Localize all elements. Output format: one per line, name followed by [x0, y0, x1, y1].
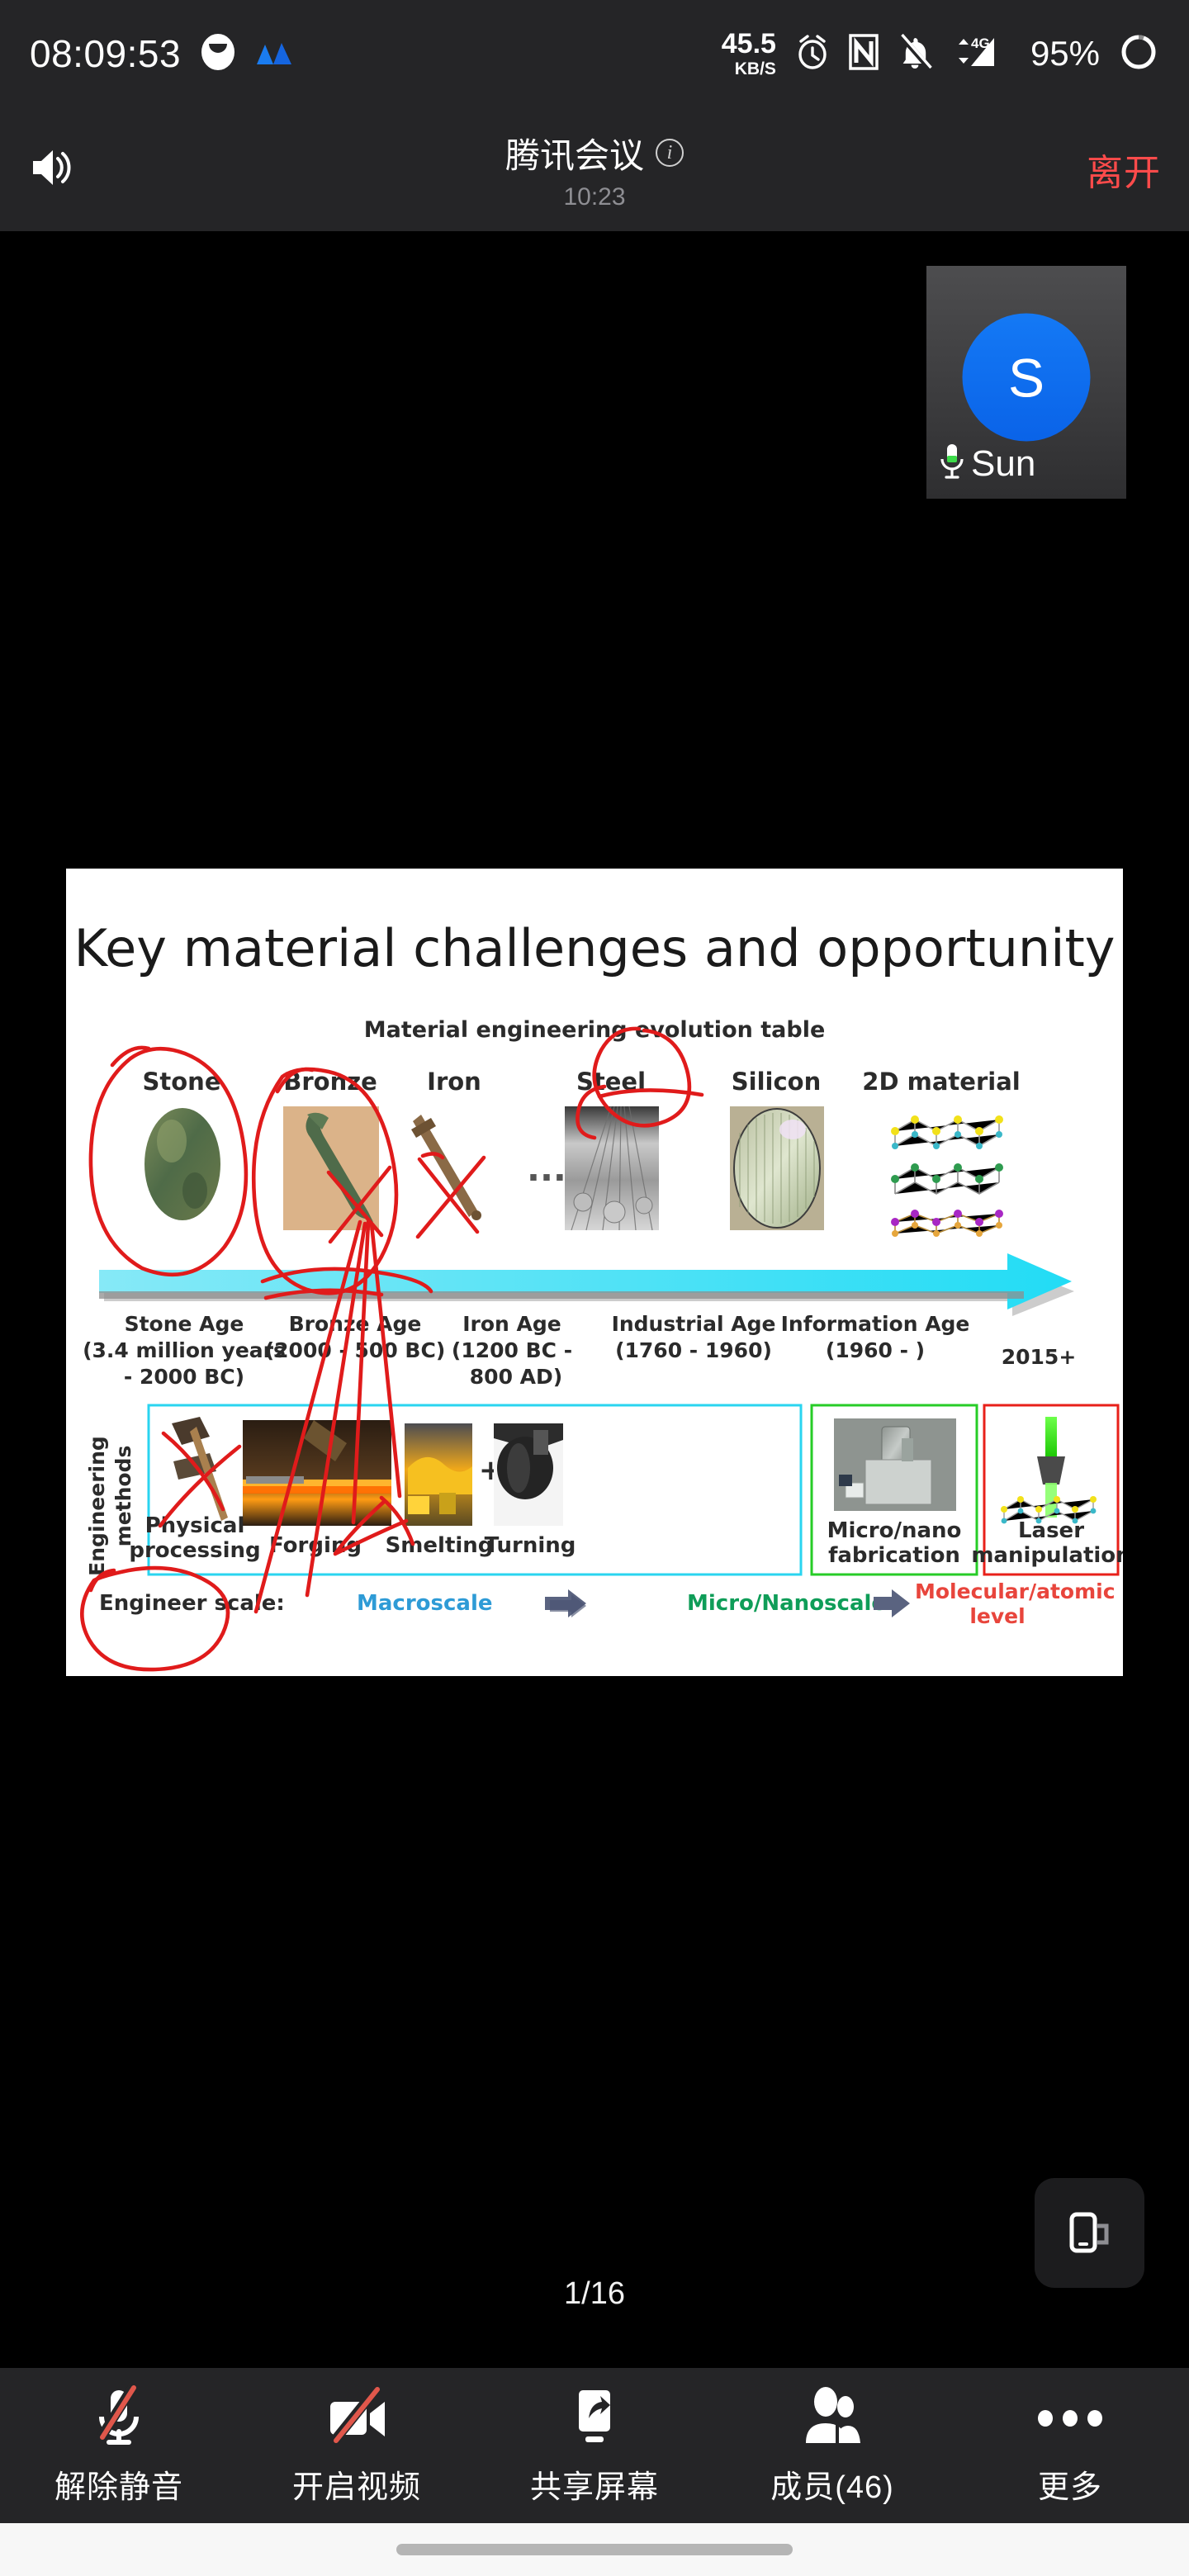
mute-button[interactable]: 解除静音: [0, 2385, 238, 2507]
status-bar-left: 08:09:53: [30, 31, 293, 76]
battery-percent: 95%: [1030, 34, 1100, 73]
svg-text:Bronze Age: Bronze Age: [289, 1312, 422, 1336]
floating-window-icon: [1060, 2201, 1120, 2265]
svg-text:(1200 BC -: (1200 BC -: [452, 1338, 572, 1362]
avatar-initial: S: [1008, 346, 1045, 409]
turning-thumb: [494, 1423, 563, 1526]
status-bar-right: 45.5 KB/S 4G 95%: [722, 30, 1159, 78]
info-icon[interactable]: i: [656, 139, 684, 167]
scale-molecular-label-2: level: [969, 1604, 1025, 1628]
home-indicator-area: [0, 2523, 1189, 2576]
status-clock: 08:09:53: [30, 31, 181, 76]
svg-text:2015+: 2015+: [1002, 1345, 1077, 1369]
app-badge-icon: [255, 38, 293, 70]
svg-text:Micro/nano: Micro/nano: [827, 1518, 962, 1543]
svg-text:Engineering: Engineering: [85, 1436, 109, 1576]
participants-button-label: 成员(46): [770, 2461, 894, 2507]
smelting-thumb: [405, 1423, 472, 1526]
mic-muted-icon: [88, 2385, 149, 2448]
timeline-arrow: [99, 1253, 1074, 1316]
leave-button[interactable]: 离开: [1087, 143, 1161, 196]
battery-ring-icon: [1118, 31, 1159, 77]
svg-text:(1960 - ): (1960 - ): [826, 1338, 925, 1362]
share-screen-icon: [564, 2385, 625, 2448]
scale-macro-label: Macroscale: [357, 1591, 493, 1616]
video-button-label: 开启视频: [292, 2461, 421, 2507]
meeting-header-center: 腾讯会议 i 10:23: [0, 107, 1189, 231]
svg-text:(1760 - 1960): (1760 - 1960): [615, 1338, 772, 1362]
svg-text:Material engineering evolution: Material engineering evolution table: [364, 1017, 826, 1043]
svg-text:Silicon: Silicon: [732, 1068, 821, 1096]
bottom-toolbar: 解除静音 开启视频 共享屏幕: [0, 2368, 1189, 2523]
svg-text:Turning: Turning: [485, 1533, 576, 1558]
svg-text:methods: methods: [111, 1446, 135, 1547]
svg-text:- 2000 BC): - 2000 BC): [124, 1365, 244, 1389]
svg-text:fabrication: fabrication: [828, 1543, 960, 1568]
network-speed-unit: KB/S: [735, 60, 776, 78]
ellipsis-label: ...: [527, 1148, 566, 1189]
share-screen-button[interactable]: 共享屏幕: [476, 2385, 713, 2507]
svg-text:Iron Age: Iron Age: [462, 1312, 561, 1336]
signal-4g-icon: 4G: [951, 33, 1012, 75]
participants-button[interactable]: 成员(46): [713, 2385, 951, 2507]
participants-icon: [798, 2385, 867, 2448]
status-bar: 08:09:53 45.5 KB/S: [0, 0, 1189, 107]
more-button-label: 更多: [1038, 2461, 1102, 2507]
svg-text:(3.4 million years: (3.4 million years: [83, 1338, 286, 1362]
meeting-header: 腾讯会议 i 10:23 离开: [0, 107, 1189, 231]
svg-text:Smelting: Smelting: [386, 1533, 494, 1558]
speaker-on-icon[interactable]: [28, 144, 79, 195]
home-indicator[interactable]: [396, 2544, 793, 2555]
slide-content: Material engineering evolution table Sto…: [66, 869, 1123, 1676]
stone-thumb: [144, 1108, 220, 1220]
participant-video-tile[interactable]: S Sun: [926, 266, 1126, 499]
mic-active-icon: [938, 442, 966, 485]
scale-micro-label: Micro/Nanoscale: [687, 1591, 886, 1616]
moon-icon: [201, 33, 235, 75]
svg-text:800 AD): 800 AD): [470, 1365, 562, 1389]
participant-footer: Sun: [938, 442, 1035, 485]
network-speed-value: 45.5: [722, 30, 776, 58]
svg-text:Stone Age: Stone Age: [125, 1312, 244, 1336]
nfc-icon: [849, 33, 879, 75]
svg-text:2D material: 2D material: [862, 1068, 1020, 1096]
svg-text:Stone: Stone: [143, 1068, 221, 1096]
forging-thumb: [243, 1420, 391, 1526]
bell-muted-icon: [897, 33, 933, 75]
page-indicator: 1/16: [0, 2276, 1189, 2312]
shared-slide[interactable]: Key material challenges and opportunity: [66, 869, 1123, 1676]
camera-off-icon: [322, 2385, 391, 2448]
laser-manipulation-thumb: [1001, 1417, 1097, 1523]
meeting-title-row: 腾讯会议 i: [505, 128, 684, 178]
svg-text:Industrial Age: Industrial Age: [612, 1312, 776, 1336]
scale-arrow-1: [545, 1589, 586, 1617]
avatar: S: [963, 314, 1091, 442]
svg-text:manipulation: manipulation: [971, 1543, 1123, 1568]
alarm-icon: [794, 33, 831, 75]
floating-window-button[interactable]: [1035, 2178, 1144, 2288]
svg-text:Information Age: Information Age: [781, 1312, 970, 1336]
share-screen-button-label: 共享屏幕: [530, 2461, 659, 2507]
svg-text:(2000 - 500 BC): (2000 - 500 BC): [265, 1338, 446, 1362]
bronze-thumb: [283, 1106, 379, 1230]
silicon-thumb: [730, 1106, 824, 1230]
meeting-title: 腾讯会议: [505, 128, 644, 178]
meeting-duration: 10:23: [563, 183, 625, 211]
participant-name: Sun: [971, 443, 1035, 485]
micro-nano-thumb: [834, 1418, 956, 1511]
svg-text:Laser: Laser: [1018, 1518, 1084, 1543]
2d-material-thumb: [891, 1115, 1003, 1237]
more-button[interactable]: 更多: [951, 2385, 1189, 2507]
svg-text:Iron: Iron: [427, 1068, 481, 1096]
scale-molecular-label-1: Molecular/atomic: [915, 1579, 1116, 1603]
video-button[interactable]: 开启视频: [238, 2385, 476, 2507]
network-speed: 45.5 KB/S: [722, 30, 776, 78]
svg-text:processing: processing: [129, 1538, 260, 1563]
mute-button-label: 解除静音: [54, 2461, 183, 2507]
more-dots-icon: [1030, 2385, 1110, 2448]
